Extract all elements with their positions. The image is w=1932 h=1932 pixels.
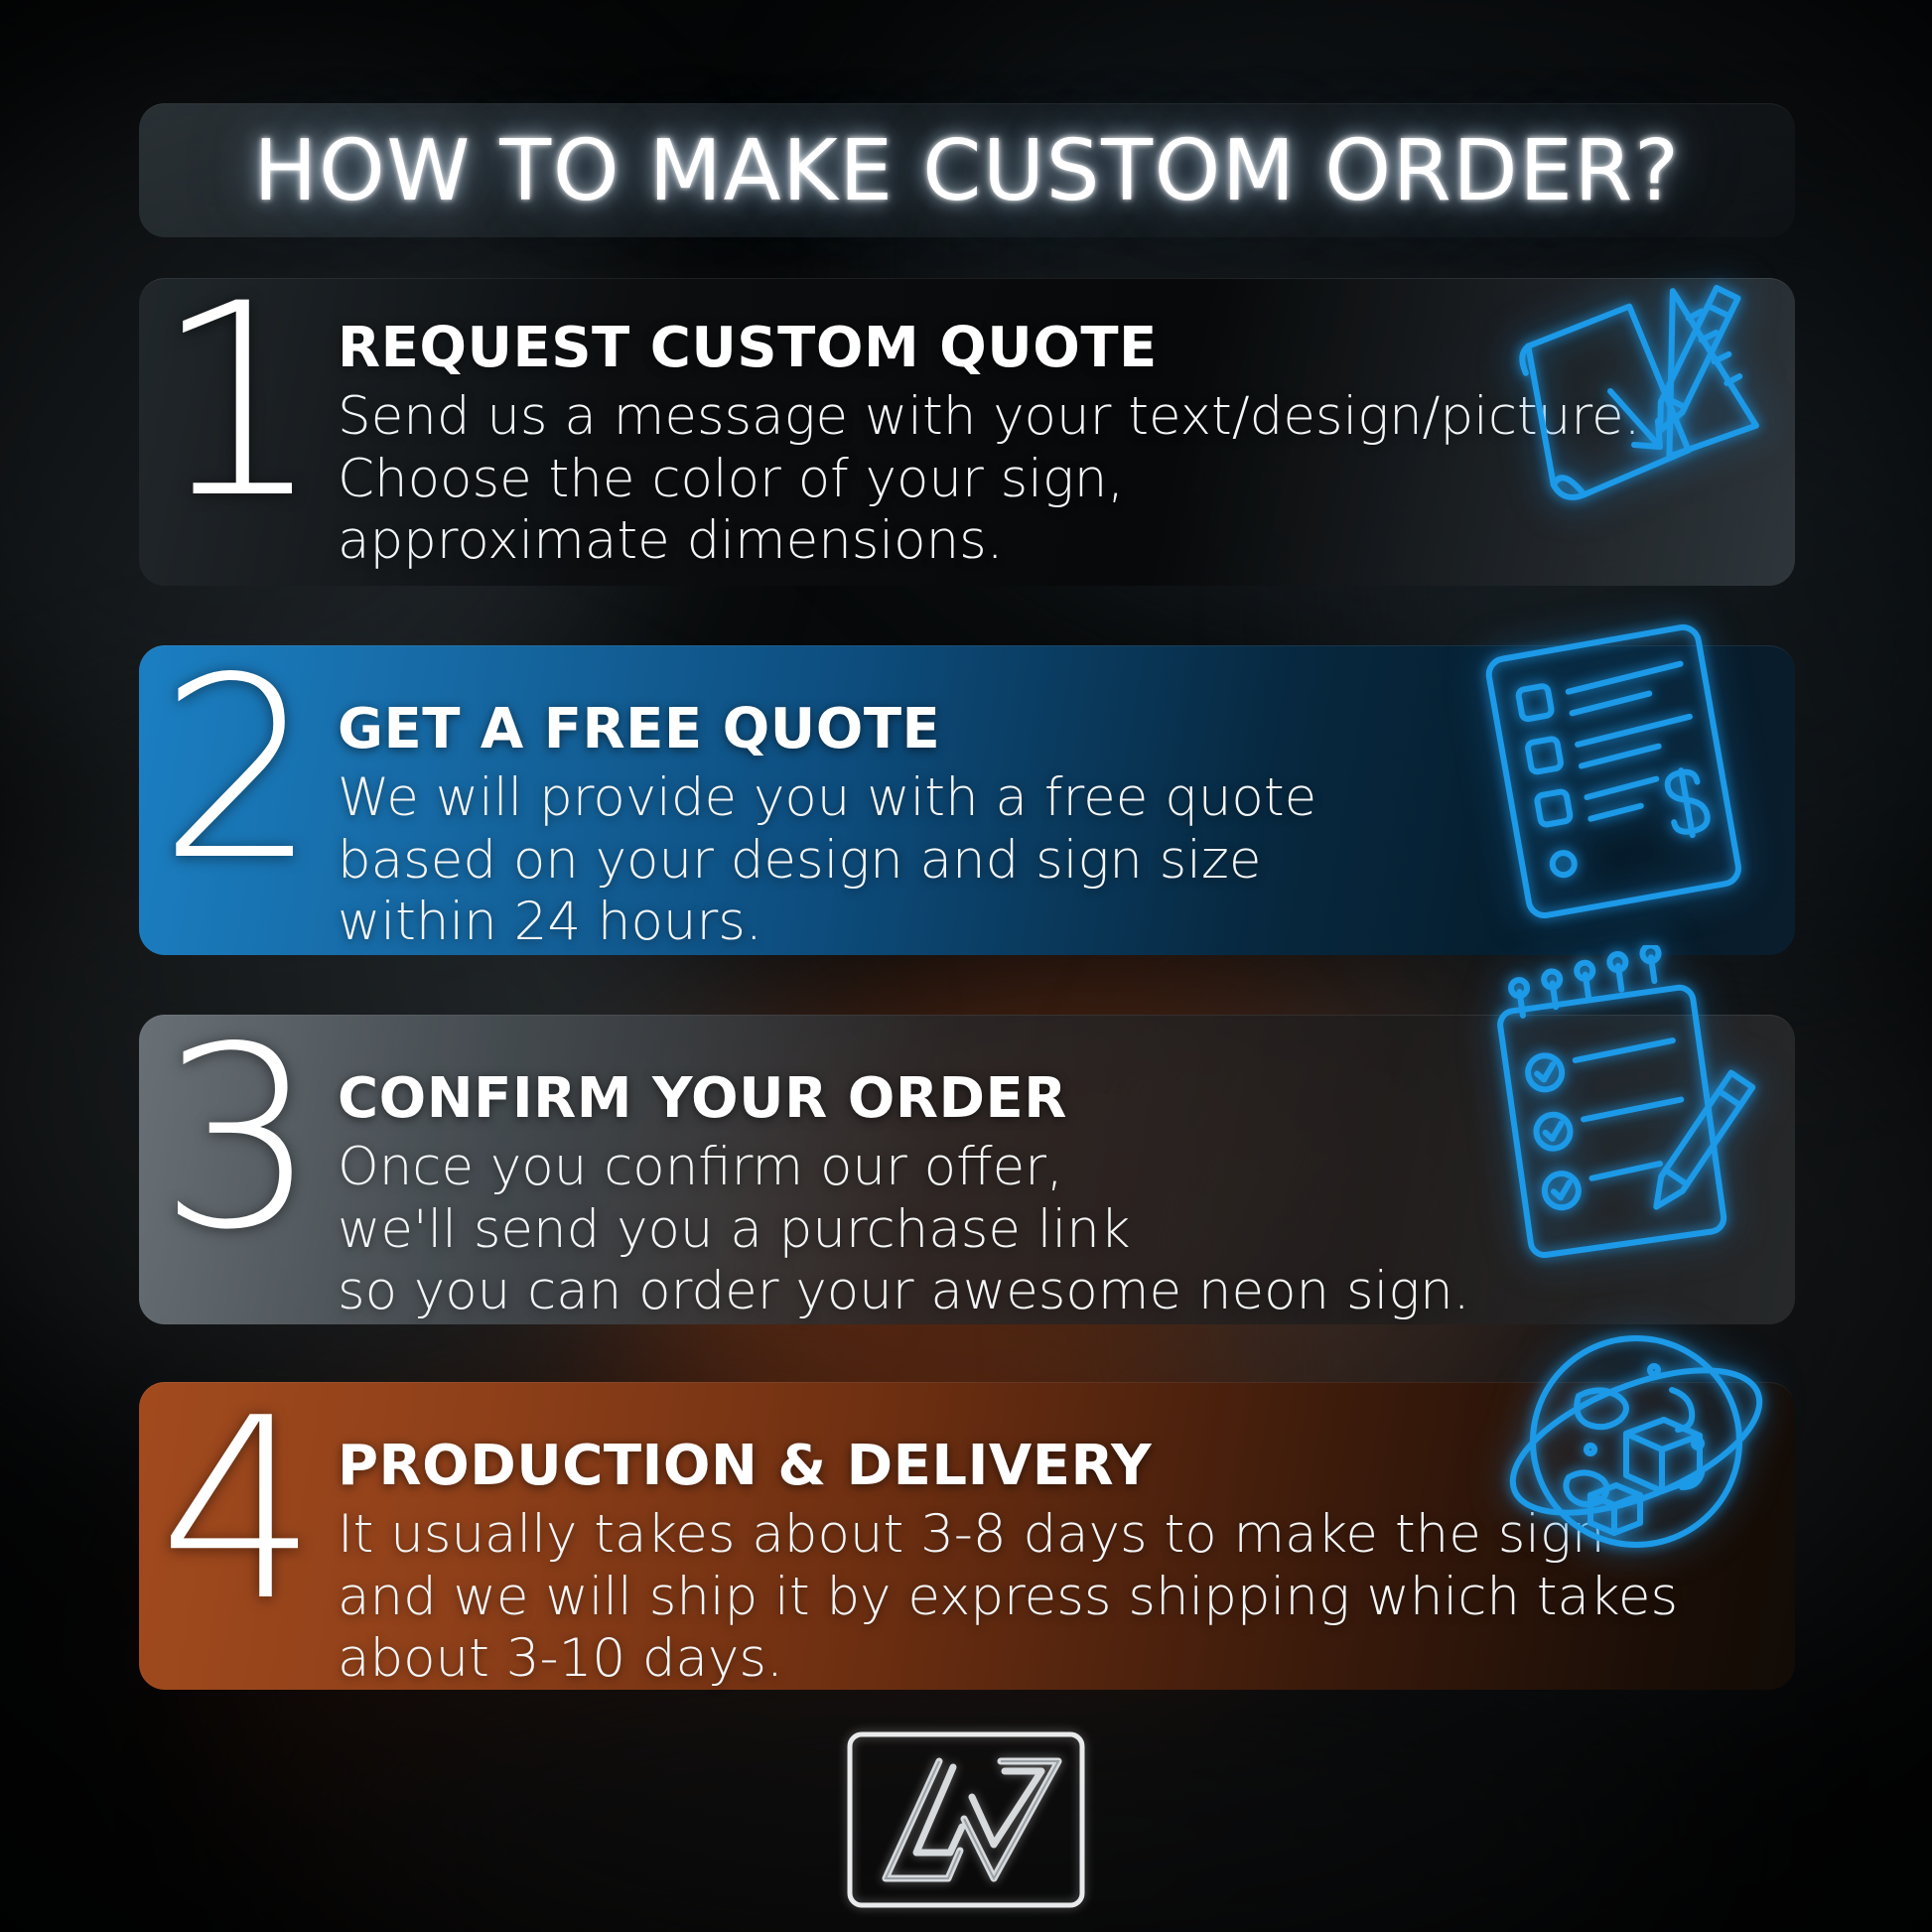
step-card-2: 2 GET A FREE QUOTE We will provide you w… bbox=[139, 645, 1795, 955]
page-title: HOW TO MAKE CUSTOM ORDER? bbox=[253, 122, 1680, 220]
step-description-line: approximate dimensions. bbox=[338, 510, 1765, 573]
step-number-1: 1 bbox=[139, 278, 338, 525]
step-title-4: PRODUCTION & DELIVERY bbox=[338, 1434, 1765, 1498]
step-description-line: Send us a message with your text/design/… bbox=[338, 386, 1765, 449]
step-card-4: 4 PRODUCTION & DELIVERY It usually takes… bbox=[139, 1382, 1795, 1690]
step-number-3: 3 bbox=[139, 1015, 338, 1255]
step-number-4: 4 bbox=[139, 1382, 338, 1626]
step-title-2: GET A FREE QUOTE bbox=[338, 697, 1765, 761]
step-description-line: and we will ship it by express shipping … bbox=[338, 1567, 1765, 1629]
step-number-2: 2 bbox=[139, 645, 338, 886]
page-title-banner: HOW TO MAKE CUSTOM ORDER? bbox=[139, 103, 1795, 237]
step-card-1: 1 REQUEST CUSTOM QUOTE Send us a message… bbox=[139, 278, 1795, 586]
step-description-line: Once you confirm our offer, bbox=[338, 1137, 1765, 1199]
step-description-4: It usually takes about 3-8 days to make … bbox=[338, 1504, 1765, 1691]
step-title-3: CONFIRM YOUR ORDER bbox=[338, 1066, 1765, 1131]
step-description-line: within 24 hours. bbox=[338, 892, 1765, 954]
step-description-2: We will provide you with a free quote ba… bbox=[338, 767, 1765, 954]
step-description-line: Choose the color of your sign, bbox=[338, 449, 1765, 511]
step-description-1: Send us a message with your text/design/… bbox=[338, 386, 1765, 573]
step-description-line: based on your design and sign size bbox=[338, 830, 1765, 893]
step-title-1: REQUEST CUSTOM QUOTE bbox=[338, 316, 1765, 380]
infographic-page: HOW TO MAKE CUSTOM ORDER? 1 REQUEST CUST… bbox=[0, 0, 1932, 1932]
step-description-line: about 3-10 days. bbox=[338, 1628, 1765, 1691]
ln-monogram-logo bbox=[843, 1727, 1089, 1912]
step-card-3: 3 CONFIRM YOUR ORDER Once you confirm ou… bbox=[139, 1015, 1795, 1324]
step-description-line: We will provide you with a free quote bbox=[338, 767, 1765, 830]
step-description-line: we'll send you a purchase link bbox=[338, 1199, 1765, 1262]
step-description-line: It usually takes about 3-8 days to make … bbox=[338, 1504, 1765, 1567]
step-description-line: so you can order your awesome neon sign. bbox=[338, 1261, 1765, 1323]
step-description-3: Once you confirm our offer, we'll send y… bbox=[338, 1137, 1765, 1323]
